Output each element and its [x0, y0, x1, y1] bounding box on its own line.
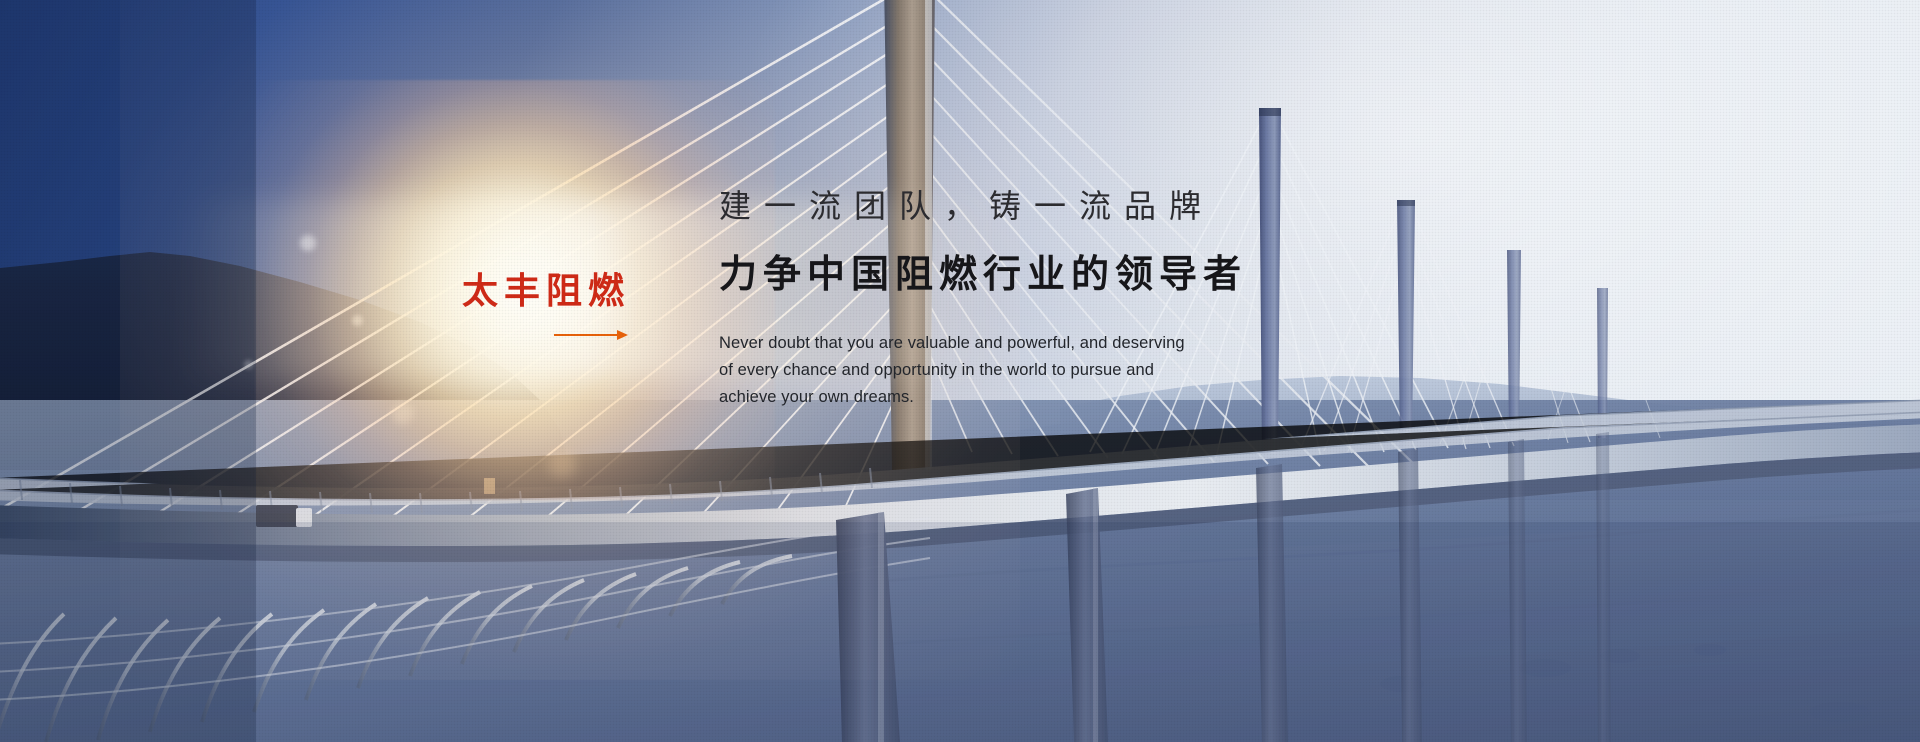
banner-content: 太丰阻燃 建一流团队，铸一流品牌 力争中国阻燃行业的领导者 Never doub…	[0, 0, 1920, 742]
company-logo[interactable]: 太丰阻燃	[462, 274, 682, 340]
arrow-right-icon	[554, 330, 628, 340]
hero-banner: 太丰阻燃 建一流团队，铸一流品牌 力争中国阻燃行业的领导者 Never doub…	[0, 0, 1920, 742]
headline-secondary: 力争中国阻燃行业的领导者	[719, 255, 1247, 293]
logo-text: 太丰阻燃	[462, 274, 682, 310]
subcopy-paragraph: Never doubt that you are valuable and po…	[719, 330, 1299, 411]
arrow-head	[617, 330, 628, 340]
headline-primary: 建一流团队，铸一流品牌	[719, 190, 1214, 222]
arrow-shaft	[554, 334, 620, 336]
